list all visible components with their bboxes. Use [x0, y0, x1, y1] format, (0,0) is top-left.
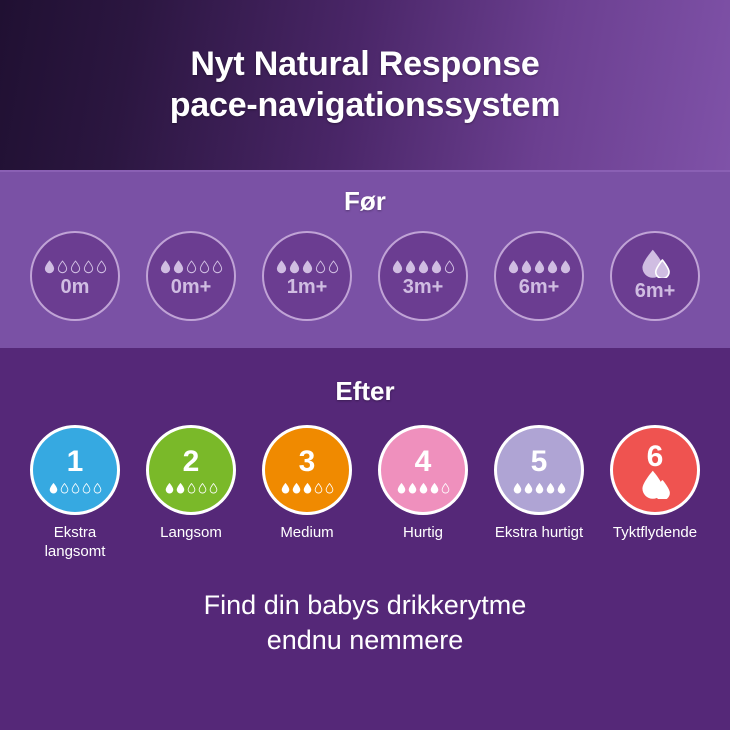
- droplet-row: [281, 480, 334, 494]
- tagline: Find din babys drikkerytme endnu nemmere: [0, 588, 730, 658]
- after-item-label: Tyktflydende: [602, 524, 708, 543]
- droplet-row: [508, 256, 571, 274]
- droplet-icon: [524, 482, 533, 494]
- thick-flow-icon: [638, 469, 672, 499]
- droplet-icon: [303, 482, 312, 494]
- after-item[interactable]: 2Langsom: [141, 425, 241, 543]
- droplet-icon: [392, 259, 403, 274]
- droplet-icon: [546, 482, 555, 494]
- after-circle-1[interactable]: 1: [30, 425, 120, 515]
- droplet-icon: [199, 259, 210, 274]
- after-circle-number: 2: [183, 447, 200, 477]
- thick-flow-icon: [638, 248, 672, 278]
- droplet-icon: [82, 482, 91, 494]
- droplet-icon: [444, 259, 455, 274]
- after-circle-number: 4: [415, 447, 432, 477]
- thick-flow-row: [638, 252, 672, 278]
- after-circle-number: 5: [531, 447, 548, 477]
- before-item: 6m+: [489, 231, 589, 321]
- droplet-icon: [534, 259, 545, 274]
- droplet-icon: [557, 482, 566, 494]
- infographic-page: Nyt Natural Response pace-navigationssys…: [0, 0, 730, 730]
- tagline-line2: endnu nemmere: [0, 623, 730, 658]
- droplet-row: [44, 256, 107, 274]
- after-section: Efter 1Ekstra langsomt2Langsom3Medium4Hu…: [0, 348, 730, 730]
- before-age-label: 6m+: [635, 281, 676, 301]
- droplet-row: [392, 256, 455, 274]
- droplet-icon: [418, 259, 429, 274]
- before-circle-1: 0m: [30, 231, 120, 321]
- before-circle-2: 0m+: [146, 231, 236, 321]
- droplet-icon: [408, 482, 417, 494]
- droplet-icon: [176, 482, 185, 494]
- droplet-icon: [535, 482, 544, 494]
- before-circle-4: 3m+: [378, 231, 468, 321]
- droplet-icon: [60, 482, 69, 494]
- droplet-row: [160, 256, 223, 274]
- droplet-icon: [397, 482, 406, 494]
- after-circle-3[interactable]: 3: [262, 425, 352, 515]
- after-section-title: Efter: [0, 376, 730, 407]
- page-title-line1: Nyt Natural Response: [190, 45, 539, 83]
- before-circle-6: 6m+: [610, 231, 700, 321]
- droplet-icon: [173, 259, 184, 274]
- before-item: 1m+: [257, 231, 357, 321]
- before-age-label: 0m: [61, 277, 90, 297]
- droplet-icon: [276, 259, 287, 274]
- after-item-label: Langsom: [138, 524, 244, 543]
- after-items-row: 1Ekstra langsomt2Langsom3Medium4Hurtig5E…: [0, 425, 730, 562]
- before-section: Før 0m0m+1m+3m+6m+6m+: [0, 170, 730, 350]
- droplet-icon: [325, 482, 334, 494]
- droplet-row: [165, 480, 218, 494]
- droplet-icon: [560, 259, 571, 274]
- droplet-icon: [289, 259, 300, 274]
- after-circle-number: 3: [299, 447, 316, 477]
- before-item: 6m+: [605, 231, 705, 321]
- droplet-row: [276, 256, 339, 274]
- before-section-title: Før: [0, 186, 730, 217]
- after-circle-6[interactable]: 6: [610, 425, 700, 515]
- droplet-icon: [187, 482, 196, 494]
- droplet-icon: [547, 259, 558, 274]
- after-item[interactable]: 1Ekstra langsomt: [25, 425, 125, 562]
- droplet-row: [397, 480, 450, 494]
- before-items-row: 0m0m+1m+3m+6m+6m+: [0, 231, 730, 321]
- before-item: 0m: [25, 231, 125, 321]
- droplet-icon: [70, 259, 81, 274]
- after-item[interactable]: 4Hurtig: [373, 425, 473, 543]
- after-circle-4[interactable]: 4: [378, 425, 468, 515]
- droplet-icon: [198, 482, 207, 494]
- droplet-icon: [508, 259, 519, 274]
- droplet-icon: [419, 482, 428, 494]
- droplet-icon: [328, 259, 339, 274]
- page-title: Nyt Natural Response pace-navigationssys…: [170, 44, 561, 127]
- page-title-line2: pace-navigationssystem: [170, 85, 561, 126]
- before-age-label: 6m+: [519, 277, 560, 297]
- before-age-label: 3m+: [403, 277, 444, 297]
- after-item[interactable]: 5Ekstra hurtigt: [489, 425, 589, 543]
- after-item[interactable]: 3Medium: [257, 425, 357, 543]
- droplet-icon: [441, 482, 450, 494]
- droplet-icon: [165, 482, 174, 494]
- droplet-row: [49, 480, 102, 494]
- droplet-icon: [186, 259, 197, 274]
- droplet-icon: [292, 482, 301, 494]
- droplet-icon: [431, 259, 442, 274]
- after-item-label: Ekstra langsomt: [22, 524, 128, 562]
- droplet-icon: [44, 259, 55, 274]
- before-age-label: 1m+: [287, 277, 328, 297]
- droplet-icon: [212, 259, 223, 274]
- droplet-icon: [521, 259, 532, 274]
- droplet-icon: [281, 482, 290, 494]
- droplet-icon: [315, 259, 326, 274]
- droplet-icon: [405, 259, 416, 274]
- after-item-label: Hurtig: [370, 524, 476, 543]
- droplet-icon: [160, 259, 171, 274]
- droplet-icon: [71, 482, 80, 494]
- droplet-row: [513, 480, 566, 494]
- before-circle-3: 1m+: [262, 231, 352, 321]
- header-banner: Nyt Natural Response pace-navigationssys…: [0, 0, 730, 170]
- droplet-icon: [302, 259, 313, 274]
- before-age-label: 0m+: [171, 277, 212, 297]
- droplet-icon: [314, 482, 323, 494]
- thick-flow-row: [638, 475, 672, 499]
- tagline-line1: Find din babys drikkerytme: [204, 590, 527, 620]
- droplet-icon: [57, 259, 68, 274]
- before-item: 0m+: [141, 231, 241, 321]
- after-item-label: Medium: [254, 524, 360, 543]
- after-circle-2[interactable]: 2: [146, 425, 236, 515]
- droplet-icon: [209, 482, 218, 494]
- after-circle-5[interactable]: 5: [494, 425, 584, 515]
- after-item[interactable]: 6Tyktflydende: [605, 425, 705, 543]
- after-circle-number: 1: [67, 447, 84, 477]
- after-circle-number: 6: [647, 442, 664, 472]
- droplet-icon: [49, 482, 58, 494]
- droplet-icon: [83, 259, 94, 274]
- droplet-icon: [430, 482, 439, 494]
- droplet-icon: [96, 259, 107, 274]
- droplet-icon: [93, 482, 102, 494]
- before-item: 3m+: [373, 231, 473, 321]
- after-item-label: Ekstra hurtigt: [486, 524, 592, 543]
- droplet-icon: [513, 482, 522, 494]
- before-circle-5: 6m+: [494, 231, 584, 321]
